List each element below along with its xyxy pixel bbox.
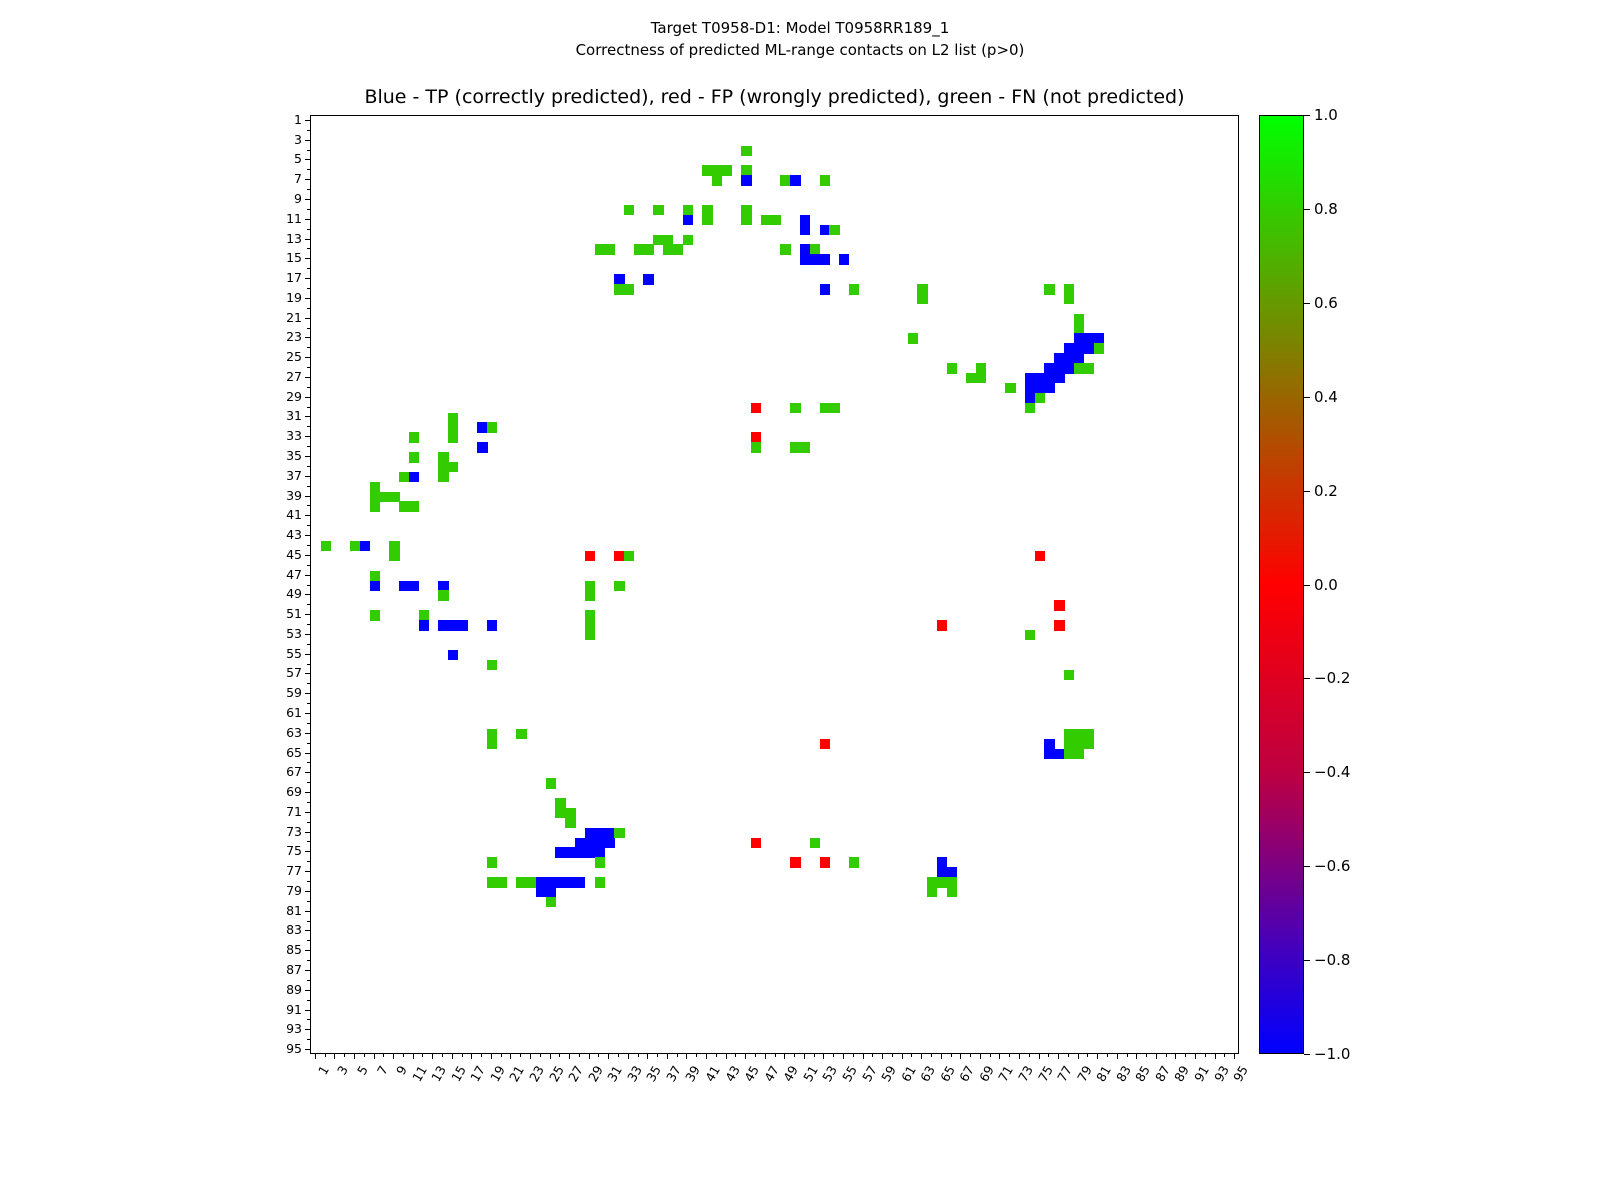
contact-cell-fn: [546, 778, 556, 788]
colorbar-tick-label: 0.8: [1314, 200, 1338, 218]
y-axis-tick: [307, 407, 310, 408]
y-axis-tick: [307, 486, 310, 487]
y-axis-tick: [307, 921, 310, 922]
y-axis-tick: [305, 575, 310, 576]
x-axis-tick: [990, 1054, 991, 1057]
contact-cell-fn: [751, 442, 761, 452]
y-axis-tick: [305, 792, 310, 793]
colorbar-tick-label: 0.6: [1314, 294, 1338, 312]
colorbar-tick: [1304, 303, 1310, 304]
x-axis-tick: [784, 1054, 785, 1059]
y-axis-tick: [305, 990, 310, 991]
y-axis-tick: [305, 219, 310, 220]
y-axis-label: 91: [242, 1002, 302, 1017]
y-axis-tick: [305, 733, 310, 734]
contact-cell-fn: [663, 235, 673, 245]
contact-cell-fn: [604, 244, 614, 254]
x-axis-tick: [569, 1054, 570, 1059]
colorbar-tick-label: 0.2: [1314, 482, 1338, 500]
y-axis-tick: [307, 743, 310, 744]
colorbar-tick: [1304, 1054, 1310, 1055]
contact-cell-fn: [409, 452, 419, 462]
contact-cell-fn: [624, 284, 634, 294]
x-axis-tick: [1195, 1054, 1196, 1059]
contact-cell-tp: [1054, 373, 1064, 383]
y-axis-label: 23: [242, 329, 302, 344]
contact-cell-fn: [829, 225, 839, 235]
x-axis-tick: [403, 1054, 404, 1057]
contact-cell-fn: [927, 887, 937, 897]
contact-cell-fn: [546, 897, 556, 907]
x-axis-tick: [1117, 1054, 1118, 1059]
y-axis-tick: [307, 585, 310, 586]
y-axis-tick: [307, 723, 310, 724]
x-axis-tick: [804, 1054, 805, 1059]
contact-cell-tp: [1084, 343, 1094, 353]
contact-cell-fp: [751, 403, 761, 413]
x-axis-tick: [921, 1054, 922, 1059]
y-axis-tick: [307, 624, 310, 625]
x-axis-tick: [559, 1054, 560, 1057]
contact-cell-fp: [1035, 551, 1045, 561]
x-axis-tick: [999, 1054, 1000, 1059]
y-axis-label: 65: [242, 745, 302, 760]
y-axis-tick: [307, 288, 310, 289]
y-axis-tick: [307, 426, 310, 427]
x-axis-tick: [716, 1054, 717, 1057]
y-axis-label: 61: [242, 705, 302, 720]
x-axis-tick: [745, 1054, 746, 1059]
y-axis-tick: [305, 515, 310, 516]
y-axis-tick: [305, 891, 310, 892]
colorbar-tick-label: −0.8: [1314, 951, 1350, 969]
y-axis-tick: [307, 565, 310, 566]
x-axis-tick: [882, 1054, 883, 1059]
colorbar-tick: [1304, 585, 1310, 586]
contact-cell-fn: [448, 432, 458, 442]
y-axis-tick: [305, 318, 310, 319]
colorbar-tick-label: −0.6: [1314, 857, 1350, 875]
y-axis-tick: [307, 861, 310, 862]
y-axis-tick: [307, 644, 310, 645]
y-axis-tick: [305, 555, 310, 556]
x-axis-tick: [374, 1054, 375, 1059]
x-axis-tick: [814, 1054, 815, 1057]
contact-cell-fn: [1044, 284, 1054, 294]
x-axis-tick: [872, 1054, 873, 1057]
y-axis-tick: [307, 703, 310, 704]
contact-cell-fn: [614, 581, 624, 591]
y-axis-tick: [307, 169, 310, 170]
y-axis-tick: [305, 357, 310, 358]
contact-cell-tp: [360, 541, 370, 551]
x-axis-tick: [354, 1054, 355, 1059]
y-axis-tick: [305, 950, 310, 951]
x-axis-tick: [931, 1054, 932, 1057]
contact-cell-fn: [516, 729, 526, 739]
axes-title-legend: Blue - TP (correctly predicted), red - F…: [310, 86, 1239, 108]
contact-cell-fn: [780, 244, 790, 254]
y-axis-label: 11: [242, 211, 302, 226]
y-axis-tick: [307, 229, 310, 230]
contact-map-plot-area[interactable]: [310, 115, 1239, 1054]
contact-cell-fn: [565, 818, 575, 828]
y-axis-label: 45: [242, 547, 302, 562]
contact-cell-fn: [653, 205, 663, 215]
y-axis-label: 17: [242, 270, 302, 285]
contact-cell-fn: [1093, 343, 1103, 353]
contact-cell-tp: [604, 838, 614, 848]
contact-cell-fn: [849, 284, 859, 294]
y-axis-tick: [307, 150, 310, 151]
y-axis-label: 27: [242, 369, 302, 384]
x-axis-tick: [1166, 1054, 1167, 1057]
colorbar-tick: [1304, 678, 1310, 679]
x-axis-tick: [334, 1054, 335, 1059]
y-axis-tick: [307, 683, 310, 684]
y-axis-label: 55: [242, 646, 302, 661]
contact-cell-fp: [937, 620, 947, 630]
x-axis-tick: [598, 1054, 599, 1057]
contact-cell-fn: [1084, 729, 1094, 739]
x-axis-tick: [344, 1054, 345, 1057]
contact-cell-fn: [487, 729, 497, 739]
x-axis-tick: [1107, 1054, 1108, 1057]
y-axis-tick: [307, 802, 310, 803]
x-axis-tick: [452, 1054, 453, 1059]
x-axis-tick: [1146, 1054, 1147, 1057]
y-axis-tick: [305, 476, 310, 477]
y-axis-tick: [305, 239, 310, 240]
contact-cell-fn: [585, 581, 595, 591]
y-axis-label: 21: [242, 310, 302, 325]
contact-cell-fn: [555, 798, 565, 808]
x-axis-tick: [1058, 1054, 1059, 1059]
contact-cells-layer: [311, 116, 1238, 1053]
x-axis-tick: [667, 1054, 668, 1059]
y-axis-tick: [307, 940, 310, 941]
y-axis-tick: [305, 594, 310, 595]
contact-cell-fn: [370, 501, 380, 511]
x-axis-tick: [696, 1054, 697, 1057]
x-axis-tick: [833, 1054, 834, 1057]
contact-cell-fn: [771, 215, 781, 225]
y-axis-tick: [305, 159, 310, 160]
x-axis-tick: [1156, 1054, 1157, 1059]
y-axis-tick: [305, 772, 310, 773]
y-axis-tick: [307, 1019, 310, 1020]
y-axis-label: 13: [242, 231, 302, 246]
contact-cell-fn: [790, 403, 800, 413]
contact-cell-fn: [624, 205, 634, 215]
x-axis-tick: [393, 1054, 394, 1059]
x-axis-tick: [960, 1054, 961, 1059]
x-axis-tick: [911, 1054, 912, 1057]
y-axis-tick: [307, 387, 310, 388]
contact-cell-tp: [839, 254, 849, 264]
x-axis-tick: [491, 1054, 492, 1059]
colorbar-tick: [1304, 491, 1310, 492]
suptitle-line-1: Target T0958-D1: Model T0958RR189_1: [0, 18, 1600, 40]
contact-cell-fn: [487, 422, 497, 432]
contact-cell-fn: [741, 165, 751, 175]
contact-cell-fn: [1035, 393, 1045, 403]
x-axis-tick: [1029, 1054, 1030, 1057]
colorbar-tick: [1304, 209, 1310, 210]
contact-cell-fn: [370, 482, 380, 492]
y-axis-label: 25: [242, 349, 302, 364]
y-axis-tick: [307, 604, 310, 605]
contact-cell-fn: [585, 610, 595, 620]
y-axis-label: 5: [242, 151, 302, 166]
colorbar-tick: [1304, 115, 1310, 116]
x-axis-tick: [520, 1054, 521, 1057]
contact-cell-fn: [448, 462, 458, 472]
y-axis-tick: [305, 496, 310, 497]
contact-cell-tp: [409, 472, 419, 482]
x-axis-tick: [902, 1054, 903, 1059]
colorbar-tick: [1304, 397, 1310, 398]
contact-cell-fn: [1084, 363, 1094, 373]
x-axis-tick: [1078, 1054, 1079, 1059]
y-axis-tick: [307, 189, 310, 190]
suptitle-line-2: Correctness of predicted ML-range contac…: [0, 40, 1600, 62]
x-axis-tick: [892, 1054, 893, 1057]
y-axis-tick: [307, 901, 310, 902]
y-axis-label: 75: [242, 843, 302, 858]
y-axis-tick: [307, 466, 310, 467]
y-axis-tick: [305, 753, 310, 754]
y-axis-tick: [305, 970, 310, 971]
contact-cell-tp: [487, 620, 497, 630]
y-axis-tick: [305, 278, 310, 279]
contact-cell-tp: [438, 581, 448, 591]
y-axis-tick: [305, 199, 310, 200]
contact-cell-tp: [820, 284, 830, 294]
contact-cell-fn: [321, 541, 331, 551]
y-axis-label: 77: [242, 863, 302, 878]
contact-cell-fn: [673, 244, 683, 254]
x-axis-tick: [843, 1054, 844, 1059]
x-axis-tick: [608, 1054, 609, 1059]
x-axis-tick: [550, 1054, 551, 1059]
contact-cell-fp: [790, 857, 800, 867]
y-axis-label: 85: [242, 942, 302, 957]
colorbar-tick-label: −0.4: [1314, 763, 1350, 781]
contact-cell-fn: [820, 175, 830, 185]
contact-cell-tp: [683, 215, 693, 225]
y-axis-tick: [305, 456, 310, 457]
y-axis-tick: [307, 209, 310, 210]
y-axis-tick: [305, 871, 310, 872]
x-axis-tick: [647, 1054, 648, 1059]
y-axis-tick: [305, 812, 310, 813]
y-axis-label: 37: [242, 468, 302, 483]
contact-cell-fn: [722, 165, 732, 175]
contact-cell-fp: [820, 739, 830, 749]
contact-cell-fn: [908, 333, 918, 343]
y-axis-tick: [307, 268, 310, 269]
y-axis-tick: [305, 1029, 310, 1030]
contact-cell-tp: [595, 847, 605, 857]
contact-cell-fn: [702, 215, 712, 225]
x-axis-tick: [1224, 1054, 1225, 1057]
contact-cell-tp: [820, 254, 830, 264]
contact-cell-fn: [800, 442, 810, 452]
contact-cell-fn: [976, 363, 986, 373]
colorbar-tick-label: −0.2: [1314, 669, 1350, 687]
y-axis-tick: [307, 762, 310, 763]
x-axis-tick: [618, 1054, 619, 1057]
y-axis-tick: [305, 258, 310, 259]
y-axis-label: 59: [242, 685, 302, 700]
y-axis-label: 67: [242, 764, 302, 779]
y-axis-tick: [307, 347, 310, 348]
contact-cell-fn: [487, 660, 497, 670]
y-axis-tick: [305, 832, 310, 833]
x-axis-tick: [1048, 1054, 1049, 1057]
y-axis-tick: [307, 881, 310, 882]
y-axis-tick: [307, 446, 310, 447]
x-axis-tick: [951, 1054, 952, 1057]
x-axis-tick: [686, 1054, 687, 1059]
contact-cell-fn: [829, 403, 839, 413]
contact-cell-fn: [438, 590, 448, 600]
contact-cell-fn: [409, 501, 419, 511]
y-axis-label: 31: [242, 408, 302, 423]
contact-cell-tp: [546, 887, 556, 897]
x-axis-tick: [422, 1054, 423, 1057]
contact-cell-fn: [741, 215, 751, 225]
x-axis-tick: [863, 1054, 864, 1059]
contact-cell-fp: [585, 551, 595, 561]
x-axis-tick: [501, 1054, 502, 1057]
contact-cell-fn: [419, 610, 429, 620]
contact-cell-fn: [614, 828, 624, 838]
y-axis-tick: [307, 367, 310, 368]
contact-cell-tp: [947, 867, 957, 877]
contact-cell-fn: [585, 590, 595, 600]
x-axis-tick: [628, 1054, 629, 1059]
contact-cell-fn: [947, 887, 957, 897]
contact-cell-fn: [389, 551, 399, 561]
y-axis-tick: [305, 713, 310, 714]
contact-cell-fn: [370, 610, 380, 620]
y-axis-tick: [305, 140, 310, 141]
y-axis-tick: [307, 525, 310, 526]
contact-cell-fn: [487, 857, 497, 867]
y-axis-tick: [307, 960, 310, 961]
y-axis-label: 63: [242, 725, 302, 740]
x-axis-tick: [315, 1054, 316, 1059]
contact-cell-fn: [1064, 670, 1074, 680]
contact-cell-tp: [448, 650, 458, 660]
contact-cell-fn: [741, 146, 751, 156]
colorbar-tick-label: 0.0: [1314, 576, 1338, 594]
y-axis-tick: [307, 308, 310, 309]
contact-cell-fp: [751, 432, 761, 442]
y-axis-label: 51: [242, 606, 302, 621]
y-axis-label: 7: [242, 171, 302, 186]
y-axis-label: 95: [242, 1041, 302, 1056]
contact-cell-fn: [849, 857, 859, 867]
x-axis-tick: [364, 1054, 365, 1057]
colorbar-tick-label: −1.0: [1314, 1045, 1350, 1063]
y-axis-tick: [307, 545, 310, 546]
x-axis-tick: [765, 1054, 766, 1059]
contact-cell-fn: [487, 739, 497, 749]
y-axis-tick: [305, 397, 310, 398]
contact-cell-fn: [1025, 630, 1035, 640]
x-axis-tick: [941, 1054, 942, 1059]
y-axis-label: 79: [242, 883, 302, 898]
contact-cell-fn: [683, 235, 693, 245]
contact-cell-fn: [712, 175, 722, 185]
contact-cell-tp: [409, 581, 419, 591]
y-axis-label: 35: [242, 448, 302, 463]
x-axis-tick: [540, 1054, 541, 1057]
contact-map-figure: Target T0958-D1: Model T0958RR189_1 Corr…: [0, 0, 1600, 1200]
x-axis-tick: [530, 1054, 531, 1059]
x-axis-tick: [481, 1054, 482, 1057]
contact-cell-tp: [800, 215, 810, 225]
y-axis-tick: [305, 634, 310, 635]
y-axis-tick: [307, 664, 310, 665]
x-axis-tick: [823, 1054, 824, 1059]
contact-cell-fn: [643, 244, 653, 254]
x-axis-tick: [638, 1054, 639, 1057]
y-axis-label: 87: [242, 962, 302, 977]
x-axis-tick: [432, 1054, 433, 1059]
y-axis-tick: [305, 179, 310, 180]
colorbar-tick: [1304, 772, 1310, 773]
contact-cell-tp: [800, 225, 810, 235]
contact-cell-fn: [810, 838, 820, 848]
y-axis-tick: [307, 782, 310, 783]
y-axis-tick: [305, 436, 310, 437]
contact-cell-fn: [1005, 383, 1015, 393]
y-axis-tick: [305, 535, 310, 536]
contact-cell-tp: [370, 581, 380, 591]
y-axis-label: 89: [242, 982, 302, 997]
contact-cell-tp: [614, 274, 624, 284]
x-axis-tick: [1205, 1054, 1206, 1057]
y-axis-tick: [305, 298, 310, 299]
x-axis-tick: [1009, 1054, 1010, 1057]
x-axis-tick: [1087, 1054, 1088, 1057]
y-axis-tick: [307, 841, 310, 842]
y-axis-tick: [307, 1000, 310, 1001]
x-axis-tick: [794, 1054, 795, 1057]
contact-cell-fn: [624, 551, 634, 561]
contact-cell-fn: [917, 294, 927, 304]
y-axis-label: 33: [242, 428, 302, 443]
x-axis-tick: [1215, 1054, 1216, 1059]
x-axis-tick: [462, 1054, 463, 1057]
x-axis-tick: [1039, 1054, 1040, 1059]
y-axis-label: 49: [242, 586, 302, 601]
colorbar-tick: [1304, 866, 1310, 867]
contact-cell-fn: [595, 877, 605, 887]
contact-cell-fn: [1064, 294, 1074, 304]
x-axis-tick: [442, 1054, 443, 1057]
contact-cell-fn: [448, 413, 458, 423]
contact-cell-tp: [419, 620, 429, 630]
x-axis-tick: [471, 1054, 472, 1059]
y-axis-tick: [305, 673, 310, 674]
contact-cell-fn: [409, 432, 419, 442]
y-axis-label: 83: [242, 922, 302, 937]
